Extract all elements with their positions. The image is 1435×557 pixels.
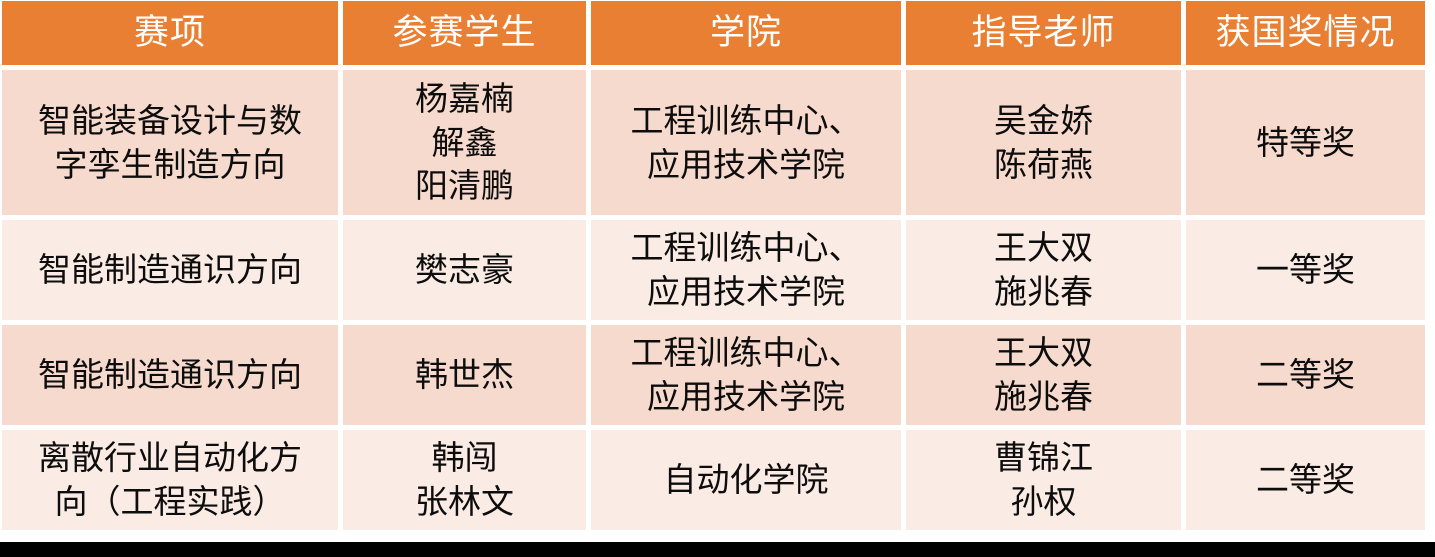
cell-event: 智能制造通识方向 <box>2 220 338 320</box>
cell-award: 特等奖 <box>1186 70 1425 215</box>
table-header: 赛项 参赛学生 学院 指导老师 获国奖情况 <box>2 1 1425 65</box>
cell-line: 施兆春 <box>906 270 1181 314</box>
cell-line: 曹锦江 <box>906 436 1181 480</box>
cell-line: 字孪生制造方向 <box>2 143 338 187</box>
left-white-margin <box>0 0 2 542</box>
cell-college: 工程训练中心、 应用技术学院 <box>591 220 901 320</box>
cell-college: 工程训练中心、 应用技术学院 <box>591 325 901 425</box>
column-header-event: 赛项 <box>2 1 338 65</box>
column-header-college: 学院 <box>591 1 901 65</box>
cell-line: 工程训练中心、 <box>591 331 901 375</box>
national-award-results-table: 赛项 参赛学生 学院 指导老师 获国奖情况 智能装备设计与数 字孪生制造方向 杨… <box>0 0 1430 535</box>
cell-students: 樊志豪 <box>343 220 586 320</box>
cell-award: 一等奖 <box>1186 220 1425 320</box>
table-header-row: 赛项 参赛学生 学院 指导老师 获国奖情况 <box>2 1 1425 65</box>
cell-line: 张林文 <box>343 480 586 524</box>
cell-advisors: 王大双 施兆春 <box>906 220 1181 320</box>
column-header-students: 参赛学生 <box>343 1 586 65</box>
cell-college: 自动化学院 <box>591 430 901 530</box>
cell-line: 向（工程实践） <box>2 480 338 524</box>
cell-award: 二等奖 <box>1186 325 1425 425</box>
cell-event: 离散行业自动化方 向（工程实践） <box>2 430 338 530</box>
cell-advisors: 曹锦江 孙权 <box>906 430 1181 530</box>
cell-line: 阳清鹏 <box>343 164 586 208</box>
bottom-black-bar <box>0 542 1435 557</box>
column-header-advisors: 指导老师 <box>906 1 1181 65</box>
cell-line: 王大双 <box>906 226 1181 270</box>
cell-line: 解鑫 <box>343 121 586 165</box>
cell-line: 杨嘉楠 <box>343 77 586 121</box>
cell-award: 二等奖 <box>1186 430 1425 530</box>
cell-line: 智能装备设计与数 <box>2 99 338 143</box>
cell-students: 韩世杰 <box>343 325 586 425</box>
cell-line: 王大双 <box>906 331 1181 375</box>
cell-advisors: 王大双 施兆春 <box>906 325 1181 425</box>
cell-event: 智能装备设计与数 字孪生制造方向 <box>2 70 338 215</box>
cell-students: 杨嘉楠 解鑫 阳清鹏 <box>343 70 586 215</box>
cell-line: 吴金娇 <box>906 99 1181 143</box>
cell-line: 施兆春 <box>906 375 1181 419</box>
cell-line: 应用技术学院 <box>591 270 901 314</box>
award-table-page: 赛项 参赛学生 学院 指导老师 获国奖情况 智能装备设计与数 字孪生制造方向 杨… <box>0 0 1435 557</box>
table-row: 离散行业自动化方 向（工程实践） 韩闯 张林文 自动化学院 曹锦江 孙权 <box>2 430 1425 530</box>
column-header-award: 获国奖情况 <box>1186 1 1425 65</box>
table-row: 智能制造通识方向 韩世杰 工程训练中心、 应用技术学院 王大双 施兆春 二等奖 <box>2 325 1425 425</box>
table-body: 智能装备设计与数 字孪生制造方向 杨嘉楠 解鑫 阳清鹏 工程训练中心、 应用技术… <box>2 70 1425 530</box>
cell-advisors: 吴金娇 陈荷燕 <box>906 70 1181 215</box>
cell-line: 孙权 <box>906 480 1181 524</box>
cell-line: 陈荷燕 <box>906 143 1181 187</box>
cell-event: 智能制造通识方向 <box>2 325 338 425</box>
cell-line: 应用技术学院 <box>591 375 901 419</box>
cell-line: 应用技术学院 <box>591 143 901 187</box>
cell-line: 韩闯 <box>343 436 586 480</box>
cell-line: 工程训练中心、 <box>591 99 901 143</box>
cell-line: 离散行业自动化方 <box>2 436 338 480</box>
cell-line: 工程训练中心、 <box>591 226 901 270</box>
cell-students: 韩闯 张林文 <box>343 430 586 530</box>
table-row: 智能装备设计与数 字孪生制造方向 杨嘉楠 解鑫 阳清鹏 工程训练中心、 应用技术… <box>2 70 1425 215</box>
cell-college: 工程训练中心、 应用技术学院 <box>591 70 901 215</box>
table-row: 智能制造通识方向 樊志豪 工程训练中心、 应用技术学院 王大双 施兆春 一等奖 <box>2 220 1425 320</box>
